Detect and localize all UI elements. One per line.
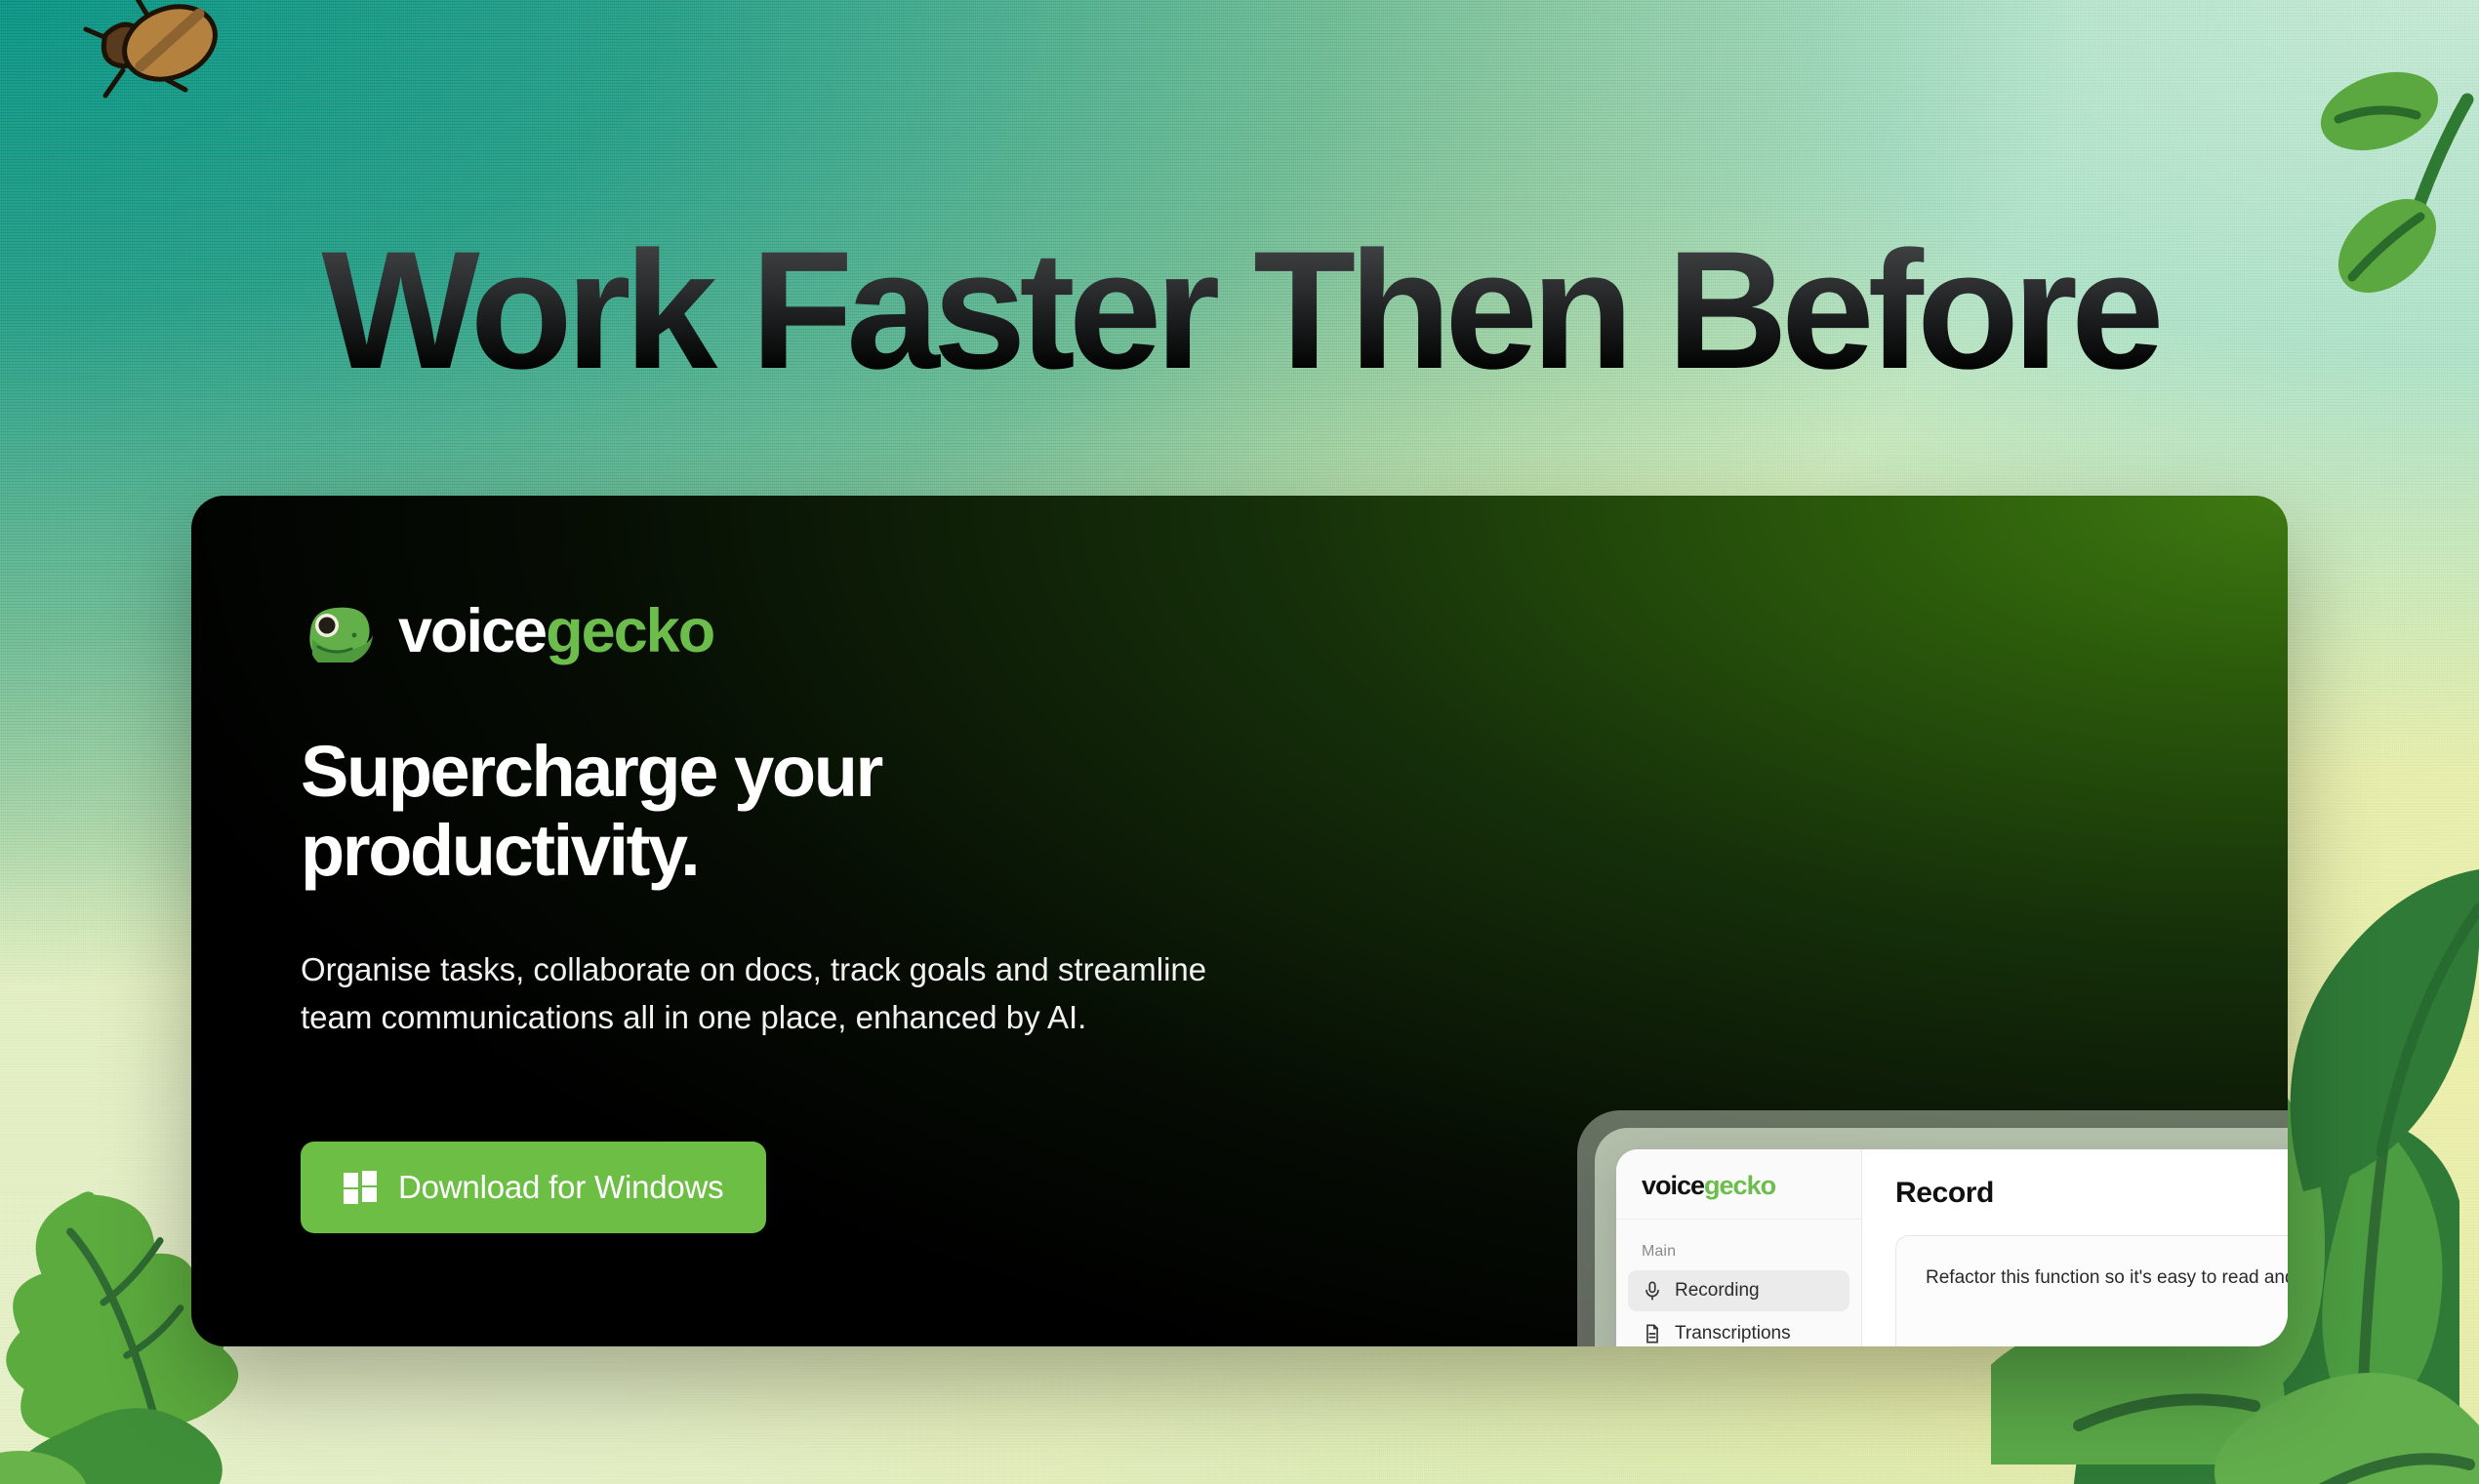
cta-label: Download for Windows bbox=[398, 1169, 723, 1206]
record-textarea[interactable]: Refactor this function so it's easy to r… bbox=[1895, 1235, 2288, 1346]
sidebar-item-label: Recording bbox=[1675, 1280, 1836, 1302]
app-sidebar: voicegecko Main Recording bbox=[1616, 1149, 1862, 1346]
sidebar-item-recording[interactable]: Recording bbox=[1628, 1270, 1849, 1311]
download-for-windows-button[interactable]: Download for Windows bbox=[301, 1142, 766, 1233]
app-window-mock: voicegecko Main Recording bbox=[1577, 1110, 2288, 1346]
sidebar-item-transcriptions[interactable]: Transcriptions bbox=[1628, 1313, 1849, 1346]
page-title: Work Faster Then Before bbox=[0, 226, 2479, 394]
card-title: Supercharge your productivity. bbox=[301, 732, 1208, 891]
app-main-panel: Record Refactor this function so it's ea… bbox=[1862, 1149, 2288, 1346]
sidebar-group-main: Main Recording bbox=[1616, 1243, 1861, 1346]
microphone-icon bbox=[1642, 1280, 1663, 1302]
document-icon bbox=[1642, 1323, 1663, 1344]
card-subtitle: Organise tasks, collaborate on docs, tra… bbox=[301, 946, 1208, 1041]
windows-logo-icon bbox=[344, 1171, 377, 1204]
gecko-head-icon bbox=[301, 602, 373, 662]
brand-word-part1: voice bbox=[398, 597, 546, 665]
hero-card: voicegecko Supercharge your productivity… bbox=[191, 496, 2288, 1346]
brand-word-part2: gecko bbox=[546, 597, 713, 665]
brand-lockup: voicegecko bbox=[301, 601, 713, 662]
app-logo-part2: gecko bbox=[1704, 1171, 1775, 1200]
record-panel-title: Record bbox=[1895, 1177, 2288, 1210]
app-logo: voicegecko bbox=[1616, 1149, 1861, 1220]
app-logo-part1: voice bbox=[1642, 1171, 1704, 1200]
sidebar-item-label: Transcriptions bbox=[1675, 1323, 1836, 1344]
record-text: Refactor this function so it's easy to r… bbox=[1926, 1267, 2288, 1289]
sidebar-nav: Main Recording bbox=[1616, 1220, 1861, 1346]
brand-wordmark: voicegecko bbox=[398, 601, 713, 662]
app-window: voicegecko Main Recording bbox=[1616, 1149, 2288, 1346]
sidebar-group-label: Main bbox=[1616, 1243, 1861, 1268]
